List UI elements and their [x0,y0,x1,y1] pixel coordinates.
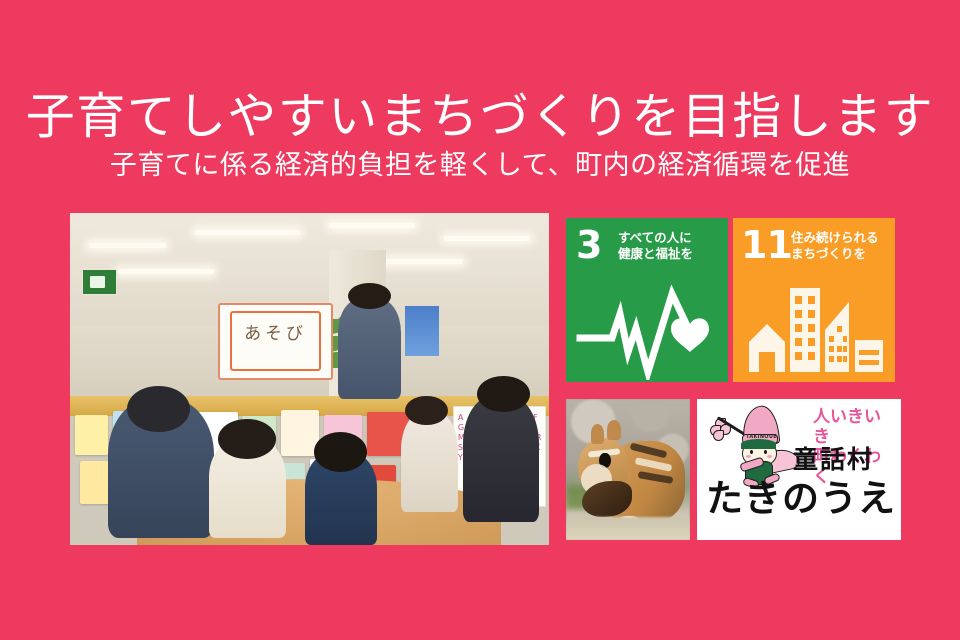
mascot-hair [741,439,776,449]
heartbeat-heart-icon [566,280,728,380]
sdg-goal-3-badge: 3 すべての人に 健康と福祉を [566,218,728,382]
ceiling-light [118,269,214,274]
library-photo: あそび A B C D E F G H I J K L M N O P Q R … [70,213,549,545]
adult-right [463,396,540,522]
child-right-head [314,432,367,472]
wall-poster [405,306,439,356]
gravel-foreground [566,517,690,540]
chipmunk-ear [607,420,621,440]
sdg-goal-3-label: すべての人に 健康と福祉を [618,230,693,262]
sdg-goal-3-number: 3 [576,226,602,264]
sdg-goal-11-label: 住み続けられる まちづくりを [791,230,879,262]
mascot-eye [750,450,753,454]
mascot-eye [764,450,767,454]
mascot-cheek [746,455,751,458]
slide-root: 子育てしやすいまちづくりを目指します 子育てに係る経済的負担を軽くして、町内の経… [0,0,960,640]
ceiling-light [195,230,300,235]
ceiling-light [444,236,530,241]
logo-middle-text: 童話村 [793,447,898,473]
sdg-goal-11-badge: 11 住み続けられる まちづくりを [733,218,895,382]
asobi-sign-text: あそび [220,319,330,344]
buildings-icon [733,280,895,380]
page-title: 子育てしやすいまちづくりを目指します [0,92,960,141]
adult-right-head [477,376,530,413]
adult-standing [338,299,400,399]
adult-standing-head [348,283,391,310]
ceiling-light [329,223,415,228]
child-center-head [218,419,275,459]
mascot-cheek [767,455,772,458]
chipmunk-ear [591,424,605,444]
child-standing [401,412,458,512]
exit-sign-icon [82,269,118,294]
page-subtitle: 子育てに係る経済的負担を軽くして、町内の経済循環を促進 [0,152,960,179]
ceiling-light [89,243,166,248]
town-logo: TAKINOUE 人いきいき 町わくわく 童話村 たきのうえ [697,399,901,540]
adult-left-head [127,386,189,432]
asobi-sign: あそび [218,303,332,380]
logo-town-name: たきのうえ [705,479,897,519]
sdg-goal-11-number: 11 [741,226,792,264]
chipmunk-photo [566,399,690,540]
